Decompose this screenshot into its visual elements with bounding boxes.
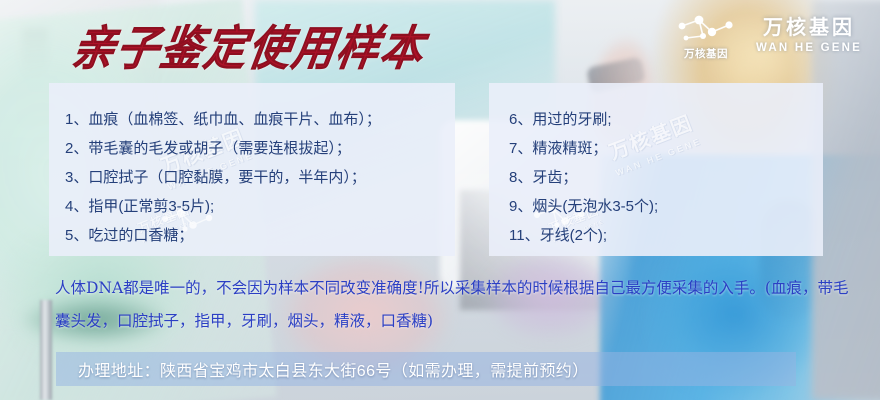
list-item: 2、带毛囊的毛发或胡子（需要连根拔起）； xyxy=(65,134,455,163)
description-paragraph: 人体DNA都是唯一的，不会因为样本不同改变准确度!所以采集样本的时候根据自己最方… xyxy=(55,272,855,338)
brand-logo: 万核基因 万核基因 WAN HE GENE xyxy=(672,12,862,60)
sample-list-panel-right: 万核基因 WAN HE GENE 万核基因 WAN HE GENE 6、用过的牙… xyxy=(489,83,823,256)
poster-canvas: 万核基因 万核基因 WAN HE GENE 亲子鉴定使用样本 万核基因 WAN … xyxy=(0,0,880,400)
list-item: 4、指甲(正常剪3-5片); xyxy=(65,192,455,221)
sample-list-panel-left: 万核基因 WAN HE GENE 万核基因 WAN HE GENE 1、血痕（血… xyxy=(49,83,455,256)
brand-name-cn: 万核基因 xyxy=(763,18,855,38)
sample-list-right: 6、用过的牙刷; 7、精液精斑； 8、牙齿； 9、烟头(无泡水3-5个); 11… xyxy=(489,83,823,250)
address-text: 办理地址：陕西省宝鸡市太白县东大街66号（如需办理，需提前预约） xyxy=(78,357,589,381)
brand-name-en: WAN HE GENE xyxy=(756,43,862,55)
brand-name-block: 万核基因 WAN HE GENE xyxy=(756,18,862,55)
page-title: 亲子鉴定使用样本 xyxy=(68,11,431,79)
list-item: 7、精液精斑； xyxy=(509,134,823,163)
list-item: 6、用过的牙刷; xyxy=(509,105,823,134)
address-bar: 办理地址：陕西省宝鸡市太白县东大街66号（如需办理，需提前预约） xyxy=(56,352,796,386)
list-item: 5、吃过的口香糖； xyxy=(65,221,455,250)
molecule-nodes-icon: 万核基因 xyxy=(672,12,740,60)
list-item: 3、口腔拭子（口腔黏膜，要干的，半年内）； xyxy=(65,163,455,192)
sample-list-left: 1、血痕（血棉签、纸巾血、血痕干片、血布）； 2、带毛囊的毛发或胡子（需要连根拔… xyxy=(49,83,455,250)
list-item: 1、血痕（血棉签、纸巾血、血痕干片、血布）； xyxy=(65,105,455,134)
sample-list-panels: 万核基因 WAN HE GENE 万核基因 WAN HE GENE 1、血痕（血… xyxy=(49,83,823,256)
logo-mark-label: 万核基因 xyxy=(672,46,740,61)
list-item: 8、牙齿； xyxy=(509,163,823,192)
list-item: 11、牙线(2个); xyxy=(509,221,823,250)
list-item: 9、烟头(无泡水3-5个); xyxy=(509,192,823,221)
panel-divider xyxy=(455,83,489,256)
